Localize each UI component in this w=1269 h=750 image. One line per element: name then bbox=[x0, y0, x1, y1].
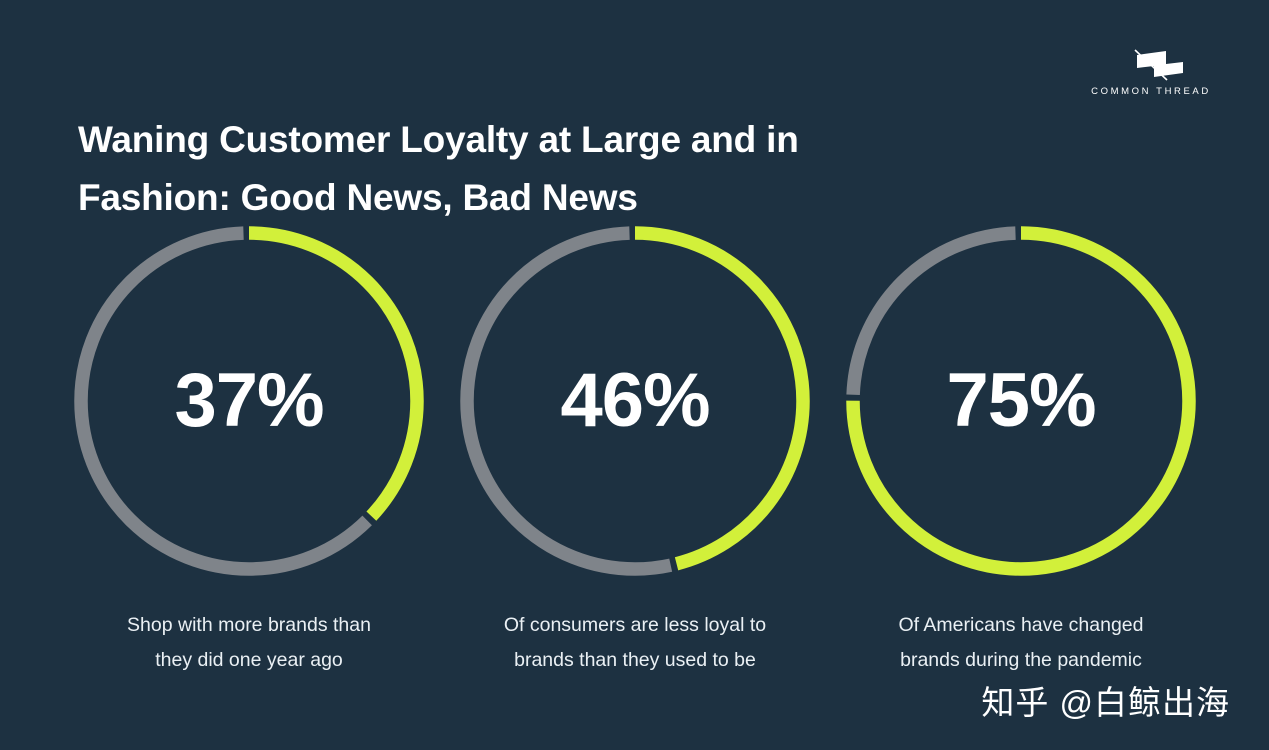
stat-caption: Of Americans have changed brands during … bbox=[856, 608, 1186, 678]
donut-chart-3: 75% bbox=[846, 226, 1196, 576]
page-title: Waning Customer Loyalty at Large and in … bbox=[78, 111, 958, 227]
stat-caption-line-2: brands during the pandemic bbox=[856, 643, 1186, 678]
watermark: 知乎 @白鲸出海 bbox=[981, 676, 1230, 724]
page-title-line-2: Fashion: Good News, Bad News bbox=[78, 169, 958, 227]
donut-value-label: 46% bbox=[460, 226, 810, 576]
donut-value-label: 75% bbox=[846, 226, 1196, 576]
flag-needle-icon bbox=[1111, 46, 1191, 86]
brand-logo: COMMON THREAD bbox=[1083, 46, 1219, 104]
stat-item: 75% Of Americans have changed brands dur… bbox=[828, 226, 1214, 678]
stat-caption: Of consumers are less loyal to brands th… bbox=[470, 608, 800, 678]
brand-logo-text: COMMON THREAD bbox=[1083, 86, 1219, 97]
page-title-line-1: Waning Customer Loyalty at Large and in bbox=[78, 111, 958, 169]
stat-caption-line-2: they did one year ago bbox=[84, 643, 414, 678]
donut-value-label: 37% bbox=[74, 226, 424, 576]
stat-caption-line-1: Of consumers are less loyal to bbox=[470, 608, 800, 643]
donut-chart-2: 46% bbox=[460, 226, 810, 576]
stat-caption-line-1: Shop with more brands than bbox=[84, 608, 414, 643]
stat-item: 46% Of consumers are less loyal to brand… bbox=[442, 226, 828, 678]
stat-caption-line-2: brands than they used to be bbox=[470, 643, 800, 678]
stat-caption: Shop with more brands than they did one … bbox=[84, 608, 414, 678]
donut-chart-1: 37% bbox=[74, 226, 424, 576]
stat-donut-group: 37% Shop with more brands than they did … bbox=[0, 226, 1269, 678]
stat-caption-line-1: Of Americans have changed bbox=[856, 608, 1186, 643]
stat-item: 37% Shop with more brands than they did … bbox=[56, 226, 442, 678]
